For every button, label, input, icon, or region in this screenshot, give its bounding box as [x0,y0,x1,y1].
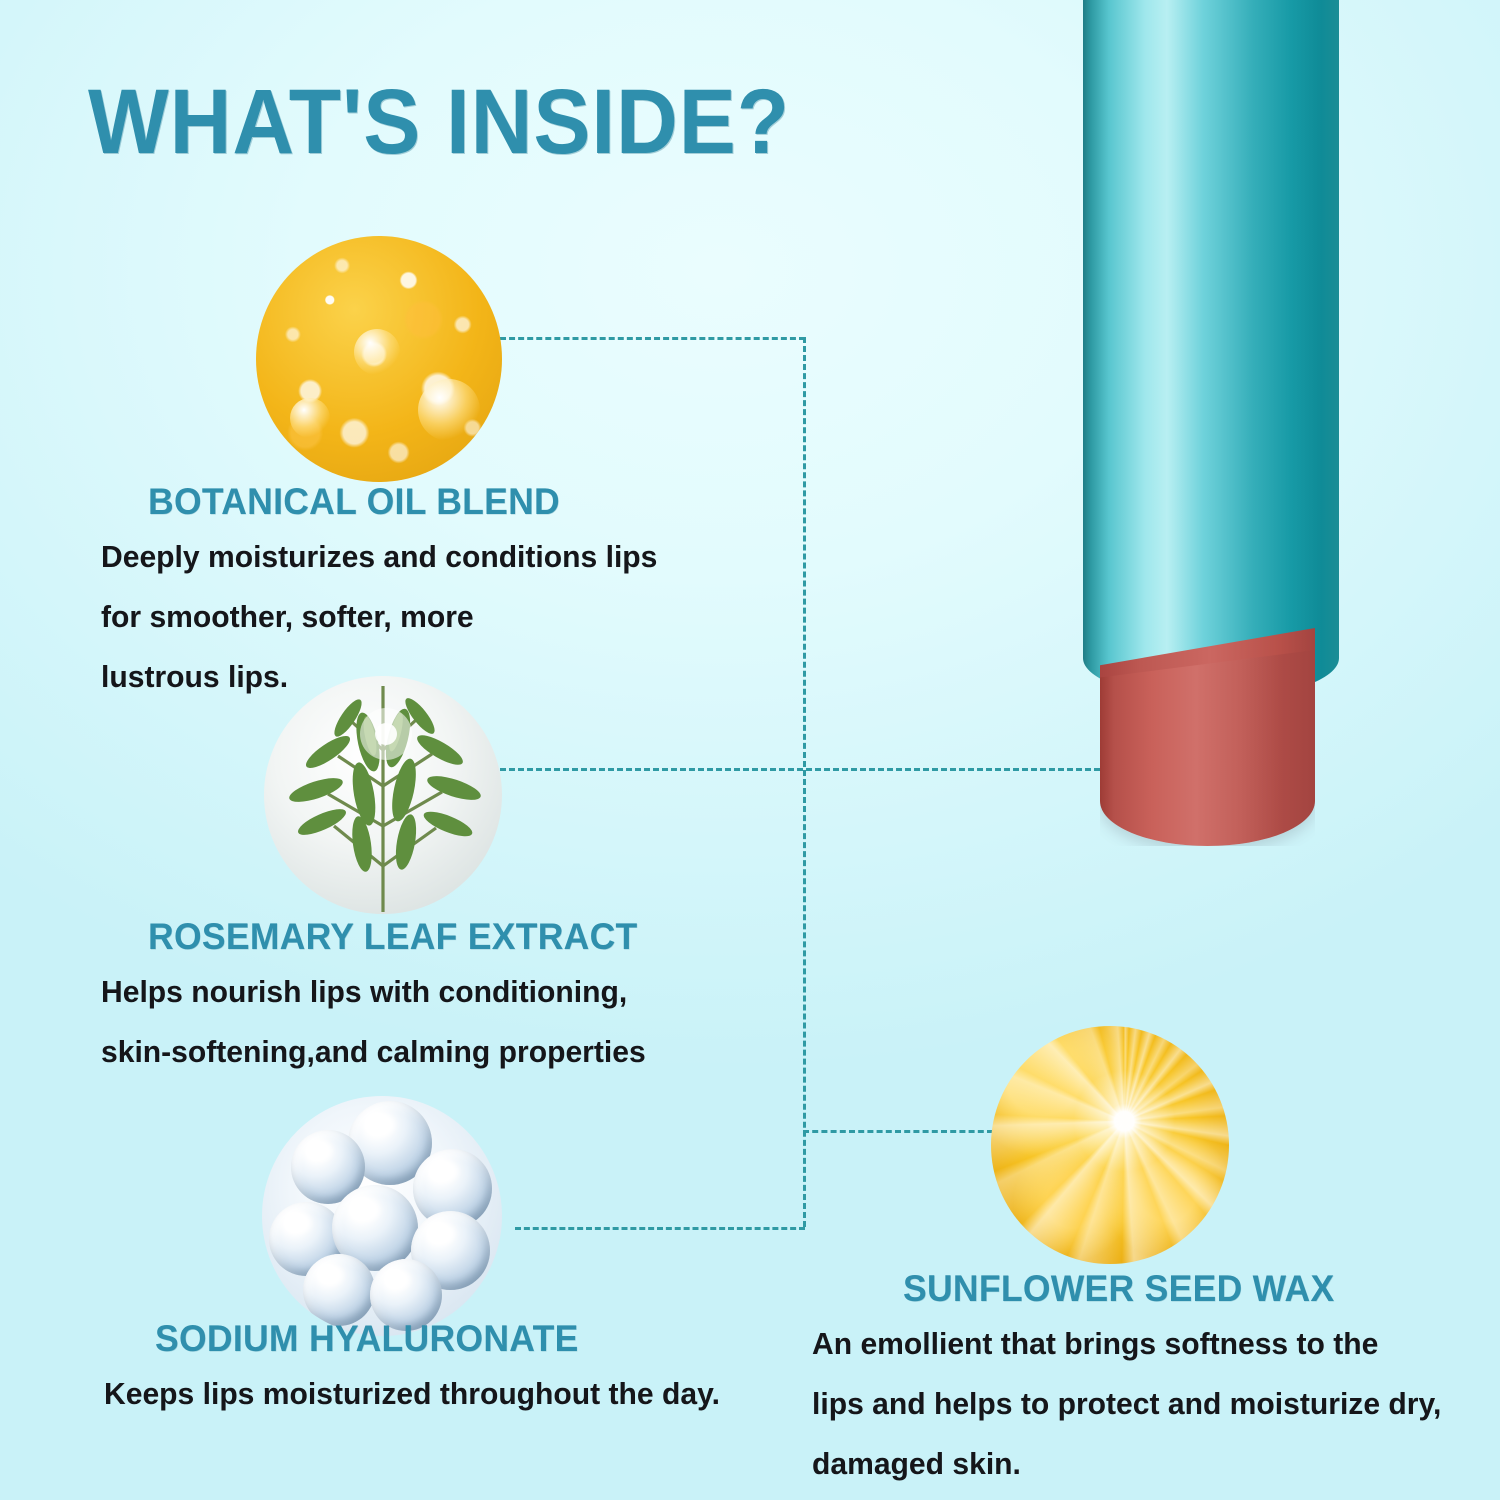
page-title: WHAT'S INSIDE? [88,76,790,168]
description-line: Keeps lips moisturized throughout the da… [104,1364,720,1424]
connector-line-hyaluronate [515,1227,805,1230]
infographic-canvas: WHAT'S INSIDE? BOTANICAL OIL BLEND Deepl… [0,0,1500,1500]
lipstick-tube-body [1083,0,1339,636]
lipstick-bullet [1100,650,1315,846]
ingredient-image-sodium-hyaluronate [262,1096,502,1336]
connector-line-oil [500,337,805,340]
connector-line-sunflower [803,1130,993,1133]
connector-line-trunk [803,337,806,1227]
description-line: skin-softening,and calming properties [101,1022,646,1082]
description-line: An emollient that brings softness to the [812,1314,1441,1374]
description-line: damaged skin. [812,1434,1441,1494]
description-line: Helps nourish lips with conditioning, [101,962,646,1022]
description-line: lips and helps to protect and moisturize… [812,1374,1441,1434]
oil-bubble-highlight [354,329,400,375]
description-line: Deeply moisturizes and conditions lips [101,527,657,587]
ingredient-title-rosemary-leaf-extract: ROSEMARY LEAF EXTRACT [148,916,638,958]
ingredient-description-sodium-hyaluronate: Keeps lips moisturized throughout the da… [104,1364,720,1424]
connector-line-rosemary [500,768,1100,771]
ingredient-description-rosemary-leaf-extract: Helps nourish lips with conditioning, sk… [101,962,646,1082]
description-line: for smoother, softer, more [101,587,657,647]
oil-bubble-highlight [290,398,330,438]
ingredient-title-botanical-oil-blend: BOTANICAL OIL BLEND [148,481,560,523]
ingredient-image-sunflower-seed-wax [991,1026,1229,1264]
water-pearl [303,1254,375,1326]
ingredient-description-sunflower-seed-wax: An emollient that brings softness to the… [812,1314,1441,1494]
ingredient-image-rosemary-leaf-extract [264,676,502,914]
ingredient-title-sodium-hyaluronate: SODIUM HYALURONATE [155,1318,579,1360]
rosemary-sprig-icon [264,676,502,914]
ingredient-image-botanical-oil-blend [256,236,502,482]
ingredient-title-sunflower-seed-wax: SUNFLOWER SEED WAX [903,1268,1334,1310]
oil-bubble-highlight [418,379,480,441]
